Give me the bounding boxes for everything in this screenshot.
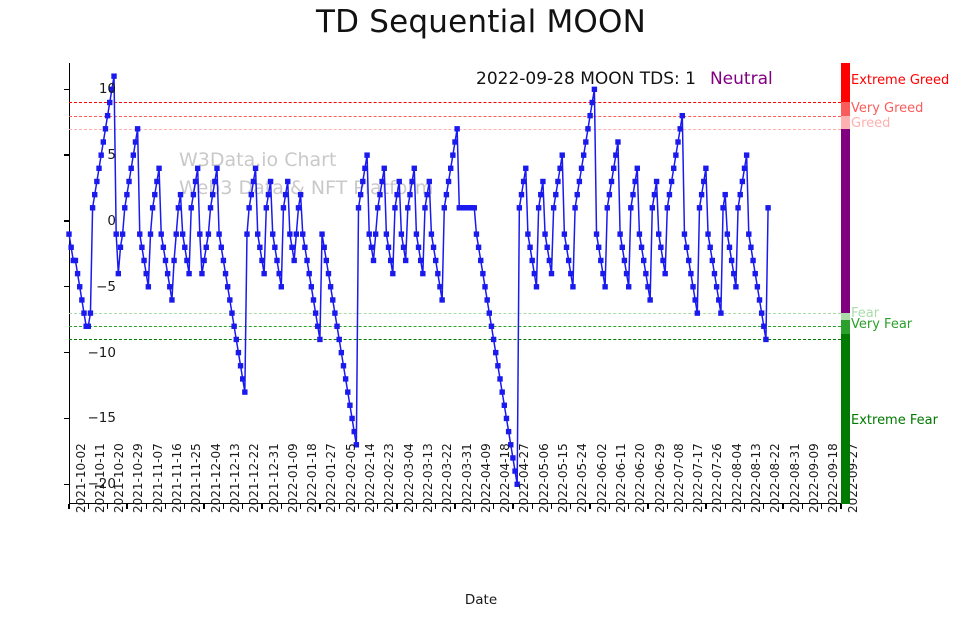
x-axis-tick-label: 2022-01-18 [305, 443, 319, 513]
series-point [600, 271, 605, 276]
series-point [120, 231, 125, 236]
series-point [105, 113, 110, 118]
series-point [206, 231, 211, 236]
series-point [287, 231, 292, 236]
series-point [137, 231, 142, 236]
series-point [491, 337, 496, 342]
series-point [375, 205, 380, 210]
series-point [707, 245, 712, 250]
series-point [283, 192, 288, 197]
series-point [605, 205, 610, 210]
chart-root: TD Sequential MOON 2022-09-28 MOON TDS: … [0, 0, 962, 633]
series-point [103, 126, 108, 131]
series-point [216, 231, 221, 236]
x-axis-tick-label: 2022-08-31 [788, 443, 802, 513]
x-axis-tick-label: 2022-08-13 [749, 443, 763, 513]
series-point [639, 245, 644, 250]
series-point [690, 284, 695, 289]
series-point [632, 179, 637, 184]
series-point [152, 192, 157, 197]
x-axis-tick-mark [126, 504, 127, 509]
series-point [343, 376, 348, 381]
series-point [656, 231, 661, 236]
series-point [214, 166, 219, 171]
series-point [755, 284, 760, 289]
series-point [116, 271, 121, 276]
series-point [291, 258, 296, 263]
zone-bar-segment-very-fear [841, 320, 850, 334]
series-point [474, 231, 479, 236]
x-axis-tick-mark [165, 504, 166, 509]
x-axis-tick-label: 2022-05-15 [556, 443, 570, 513]
series-point [560, 152, 565, 157]
x-axis-tick-label: 2021-11-07 [151, 443, 165, 513]
series-point [289, 245, 294, 250]
series-point [630, 192, 635, 197]
series-point [444, 192, 449, 197]
y-axis-tick-mark [64, 220, 69, 221]
x-axis-tick-mark [763, 504, 764, 509]
series-point [274, 258, 279, 263]
y-axis-tick-mark [64, 484, 69, 485]
zone-bar-segment-extreme-greed [841, 63, 850, 102]
x-axis-tick-label: 2022-09-09 [807, 443, 821, 513]
series-point [356, 205, 361, 210]
series-point [124, 192, 129, 197]
series-point [714, 284, 719, 289]
series-point [716, 297, 721, 302]
series-point [113, 231, 118, 236]
series-point [371, 258, 376, 263]
x-axis-tick-label: 2022-07-26 [710, 443, 724, 513]
series-point [337, 337, 342, 342]
series-point [358, 192, 363, 197]
series-point [118, 245, 123, 250]
series-point [680, 113, 685, 118]
series-point [472, 205, 477, 210]
series-point [345, 389, 350, 394]
x-axis-tick-mark [570, 504, 571, 509]
series-point [660, 258, 665, 263]
x-axis-tick-mark [821, 504, 822, 509]
series-point [68, 245, 73, 250]
x-axis-tick-label: 2021-11-16 [170, 443, 184, 513]
series-point [373, 231, 378, 236]
series-point [255, 231, 260, 236]
series-point [594, 231, 599, 236]
series-point [493, 350, 498, 355]
series-point [742, 166, 747, 171]
series-point [397, 179, 402, 184]
series-point [435, 271, 440, 276]
x-axis-tick-mark [146, 504, 147, 509]
x-axis-tick-label: 2022-01-09 [286, 443, 300, 513]
series-point [763, 337, 768, 342]
series-point [673, 152, 678, 157]
series-point [409, 179, 414, 184]
series-point [437, 284, 442, 289]
series-point [144, 271, 149, 276]
series-point [184, 258, 189, 263]
series-point [384, 231, 389, 236]
series-point [332, 310, 337, 315]
series-point [257, 245, 262, 250]
series-point [268, 179, 273, 184]
x-axis-tick-mark [474, 504, 475, 509]
series-point [223, 271, 228, 276]
series-point [645, 284, 650, 289]
series-point [753, 271, 758, 276]
series-point [577, 179, 582, 184]
series-point [723, 192, 728, 197]
series-point [641, 258, 646, 263]
zone-bar-segment-extreme-fear [841, 334, 850, 504]
series-point [334, 324, 339, 329]
x-axis-tick-mark [319, 504, 320, 509]
x-axis-tick-label: 2022-07-17 [691, 443, 705, 513]
series-point [416, 245, 421, 250]
series-point [454, 126, 459, 131]
series-point [710, 258, 715, 263]
series-point [759, 310, 764, 315]
series-point [527, 245, 532, 250]
page-title: TD Sequential MOON [0, 4, 962, 40]
series-point [740, 179, 745, 184]
series-point [304, 258, 309, 263]
series-point [208, 205, 213, 210]
series-point [163, 258, 168, 263]
series-point [699, 192, 704, 197]
series-point [231, 324, 236, 329]
x-axis-tick-label: 2022-03-04 [402, 443, 416, 513]
series-point [525, 231, 530, 236]
x-axis-tick-label: 2021-12-22 [247, 443, 261, 513]
zone-label-greed: Greed [851, 116, 890, 131]
series-point [757, 297, 762, 302]
series-point [73, 258, 78, 263]
y-axis-tick-mark [64, 154, 69, 155]
x-axis-tick-label: 2021-12-04 [209, 443, 223, 513]
series-point [532, 271, 537, 276]
plot-area: W3Data.io Chart Web3 Data & NFT Platform [69, 63, 841, 504]
series-point [135, 126, 140, 131]
x-axis-tick-label: 2022-04-09 [479, 443, 493, 513]
series-point [414, 231, 419, 236]
x-axis-tick-label: 2022-04-18 [498, 443, 512, 513]
x-axis-tick-label: 2022-09-18 [826, 443, 840, 513]
series-point [171, 258, 176, 263]
series-point [549, 271, 554, 276]
series-line [69, 76, 768, 484]
series-point [422, 205, 427, 210]
zone-bar-segment-fear [841, 313, 850, 320]
series-point [204, 245, 209, 250]
series-point [261, 271, 266, 276]
series-point [587, 113, 592, 118]
series-point [174, 231, 179, 236]
series-point [386, 245, 391, 250]
series-point [328, 284, 333, 289]
series-point [684, 245, 689, 250]
series-point [101, 139, 106, 144]
series-point [279, 284, 284, 289]
series-point [319, 231, 324, 236]
series-point [201, 258, 206, 263]
x-axis-tick-label: 2022-08-22 [768, 443, 782, 513]
series-point [482, 284, 487, 289]
series-point [439, 297, 444, 302]
series-point [566, 258, 571, 263]
series-point [727, 245, 732, 250]
series-point [399, 231, 404, 236]
series-point [519, 192, 524, 197]
series-point [499, 389, 504, 394]
x-axis-tick-mark [628, 504, 629, 509]
series-point [602, 284, 607, 289]
series-point [390, 271, 395, 276]
series-point [281, 205, 286, 210]
series-point [484, 297, 489, 302]
series-point [581, 152, 586, 157]
series-point [412, 166, 417, 171]
series-point [176, 205, 181, 210]
series-point [156, 166, 161, 171]
series-point [617, 231, 622, 236]
series-point [90, 205, 95, 210]
series-point [650, 205, 655, 210]
x-axis-tick-mark [339, 504, 340, 509]
series-point [555, 179, 560, 184]
series-point [128, 166, 133, 171]
series-point [253, 166, 258, 171]
series-point [607, 192, 612, 197]
series-point [388, 258, 393, 263]
series-point [420, 271, 425, 276]
series-point [667, 192, 672, 197]
series-point [697, 205, 702, 210]
x-axis-tick-mark [802, 504, 803, 509]
series-point [585, 126, 590, 131]
series-point [744, 152, 749, 157]
series-point [564, 245, 569, 250]
series-point [579, 166, 584, 171]
series-point [197, 231, 202, 236]
series-point [212, 179, 217, 184]
series-point [225, 284, 230, 289]
series-point [553, 192, 558, 197]
series-point [294, 231, 299, 236]
x-axis-tick-label: 2022-06-29 [653, 443, 667, 513]
series-point [92, 192, 97, 197]
series-point [731, 271, 736, 276]
series-point [761, 324, 766, 329]
x-axis-tick-label: 2022-02-05 [344, 443, 358, 513]
y-axis-tick-mark [64, 418, 69, 419]
series-point [369, 245, 374, 250]
series-point [154, 179, 159, 184]
series-point [272, 245, 277, 250]
series-point [81, 310, 86, 315]
series-point [96, 166, 101, 171]
series-point [238, 363, 243, 368]
x-axis-tick-label: 2022-06-02 [595, 443, 609, 513]
series-point [592, 87, 597, 92]
series-point [186, 271, 191, 276]
series-point [620, 245, 625, 250]
series-point [405, 205, 410, 210]
series-point [609, 179, 614, 184]
series-point [545, 245, 550, 250]
series-point [341, 363, 346, 368]
series-point [403, 258, 408, 263]
series-point [765, 205, 770, 210]
series-point [521, 179, 526, 184]
series-point [530, 258, 535, 263]
x-axis-tick-label: 2022-06-11 [614, 443, 628, 513]
series-point [568, 271, 573, 276]
x-axis-tick-mark [242, 504, 243, 509]
series-point [298, 192, 303, 197]
series-point [191, 192, 196, 197]
series-point [347, 403, 352, 408]
series-point [733, 284, 738, 289]
series-point [590, 100, 595, 105]
series-point [489, 324, 494, 329]
series-point [688, 271, 693, 276]
series-point [379, 179, 384, 184]
x-axis-tick-label: 2022-01-27 [324, 443, 338, 513]
series-point [234, 337, 239, 342]
series-point [572, 205, 577, 210]
series-point [446, 179, 451, 184]
series-point [169, 297, 174, 302]
series-point [66, 231, 71, 236]
series-point [502, 403, 507, 408]
series-point [658, 245, 663, 250]
series-point [111, 73, 116, 78]
series-point [517, 205, 522, 210]
series-point [401, 245, 406, 250]
series-point [161, 245, 166, 250]
series-point [442, 205, 447, 210]
series-point [431, 245, 436, 250]
series-point [182, 245, 187, 250]
series-point [675, 139, 680, 144]
x-axis-tick-label: 2021-10-20 [112, 443, 126, 513]
series-point [504, 416, 509, 421]
x-axis-tick-mark [435, 504, 436, 509]
x-axis-tick-mark [532, 504, 533, 509]
y-axis-label: MOON TDS [0, 193, 1, 268]
series-point [542, 231, 547, 236]
series-point [259, 258, 264, 263]
series-point [476, 245, 481, 250]
series-point [88, 310, 93, 315]
series-point [377, 192, 382, 197]
series-point [240, 376, 245, 381]
series-point [598, 258, 603, 263]
series-point [652, 192, 657, 197]
series-point [748, 245, 753, 250]
series-point [551, 205, 556, 210]
zone-label-very-fear: Very Fear [851, 317, 912, 332]
series-point [199, 271, 204, 276]
series-point [671, 166, 676, 171]
series-point [246, 205, 251, 210]
series-point [695, 310, 700, 315]
series-point [242, 389, 247, 394]
series-point [705, 231, 710, 236]
series-point [677, 126, 682, 131]
x-axis-tick-label: 2022-07-08 [672, 443, 686, 513]
series-point [575, 192, 580, 197]
series-point [662, 271, 667, 276]
x-axis-tick-mark [377, 504, 378, 509]
series-point [418, 258, 423, 263]
series-point [497, 376, 502, 381]
series-point [450, 152, 455, 157]
series-point [534, 284, 539, 289]
series-point [452, 139, 457, 144]
series-point [583, 139, 588, 144]
x-axis-tick-label: 2022-03-22 [440, 443, 454, 513]
x-axis-tick-label: 2022-05-24 [575, 443, 589, 513]
series-point [712, 271, 717, 276]
x-axis-tick-label: 2022-02-14 [363, 443, 377, 513]
series-point [244, 231, 249, 236]
zone-bar-segment-neutral [841, 129, 850, 313]
series-point [306, 271, 311, 276]
x-axis-tick-mark [647, 504, 648, 509]
x-axis-tick-label: 2022-04-27 [517, 443, 531, 513]
x-axis-tick-mark [725, 504, 726, 509]
x-axis-tick-mark [840, 504, 841, 509]
y-axis-tick-mark [64, 89, 69, 90]
series-point [637, 231, 642, 236]
series-point [429, 231, 434, 236]
x-axis-tick-mark [744, 504, 745, 509]
series-point [311, 297, 316, 302]
series-point [146, 284, 151, 289]
zone-label-extreme-greed: Extreme Greed [851, 73, 949, 88]
x-axis-tick-mark [782, 504, 783, 509]
series-point [131, 152, 136, 157]
series-point [738, 192, 743, 197]
series-point [193, 179, 198, 184]
x-axis-tick-mark [667, 504, 668, 509]
series-point [692, 297, 697, 302]
series-point [210, 192, 215, 197]
series-point [654, 179, 659, 184]
series-point [635, 166, 640, 171]
x-axis-tick-mark [609, 504, 610, 509]
series-point [624, 271, 629, 276]
series-point [317, 337, 322, 342]
series-point [701, 179, 706, 184]
series-point [364, 152, 369, 157]
series-point [189, 205, 194, 210]
series-point [367, 231, 372, 236]
series-point [148, 231, 153, 236]
series-point [424, 192, 429, 197]
series-point [611, 166, 616, 171]
series-point [227, 297, 232, 302]
x-axis-tick-mark [396, 504, 397, 509]
series-point [729, 258, 734, 263]
zone-label-very-greed: Very Greed [851, 101, 923, 116]
series-point [665, 205, 670, 210]
series-point [75, 271, 80, 276]
